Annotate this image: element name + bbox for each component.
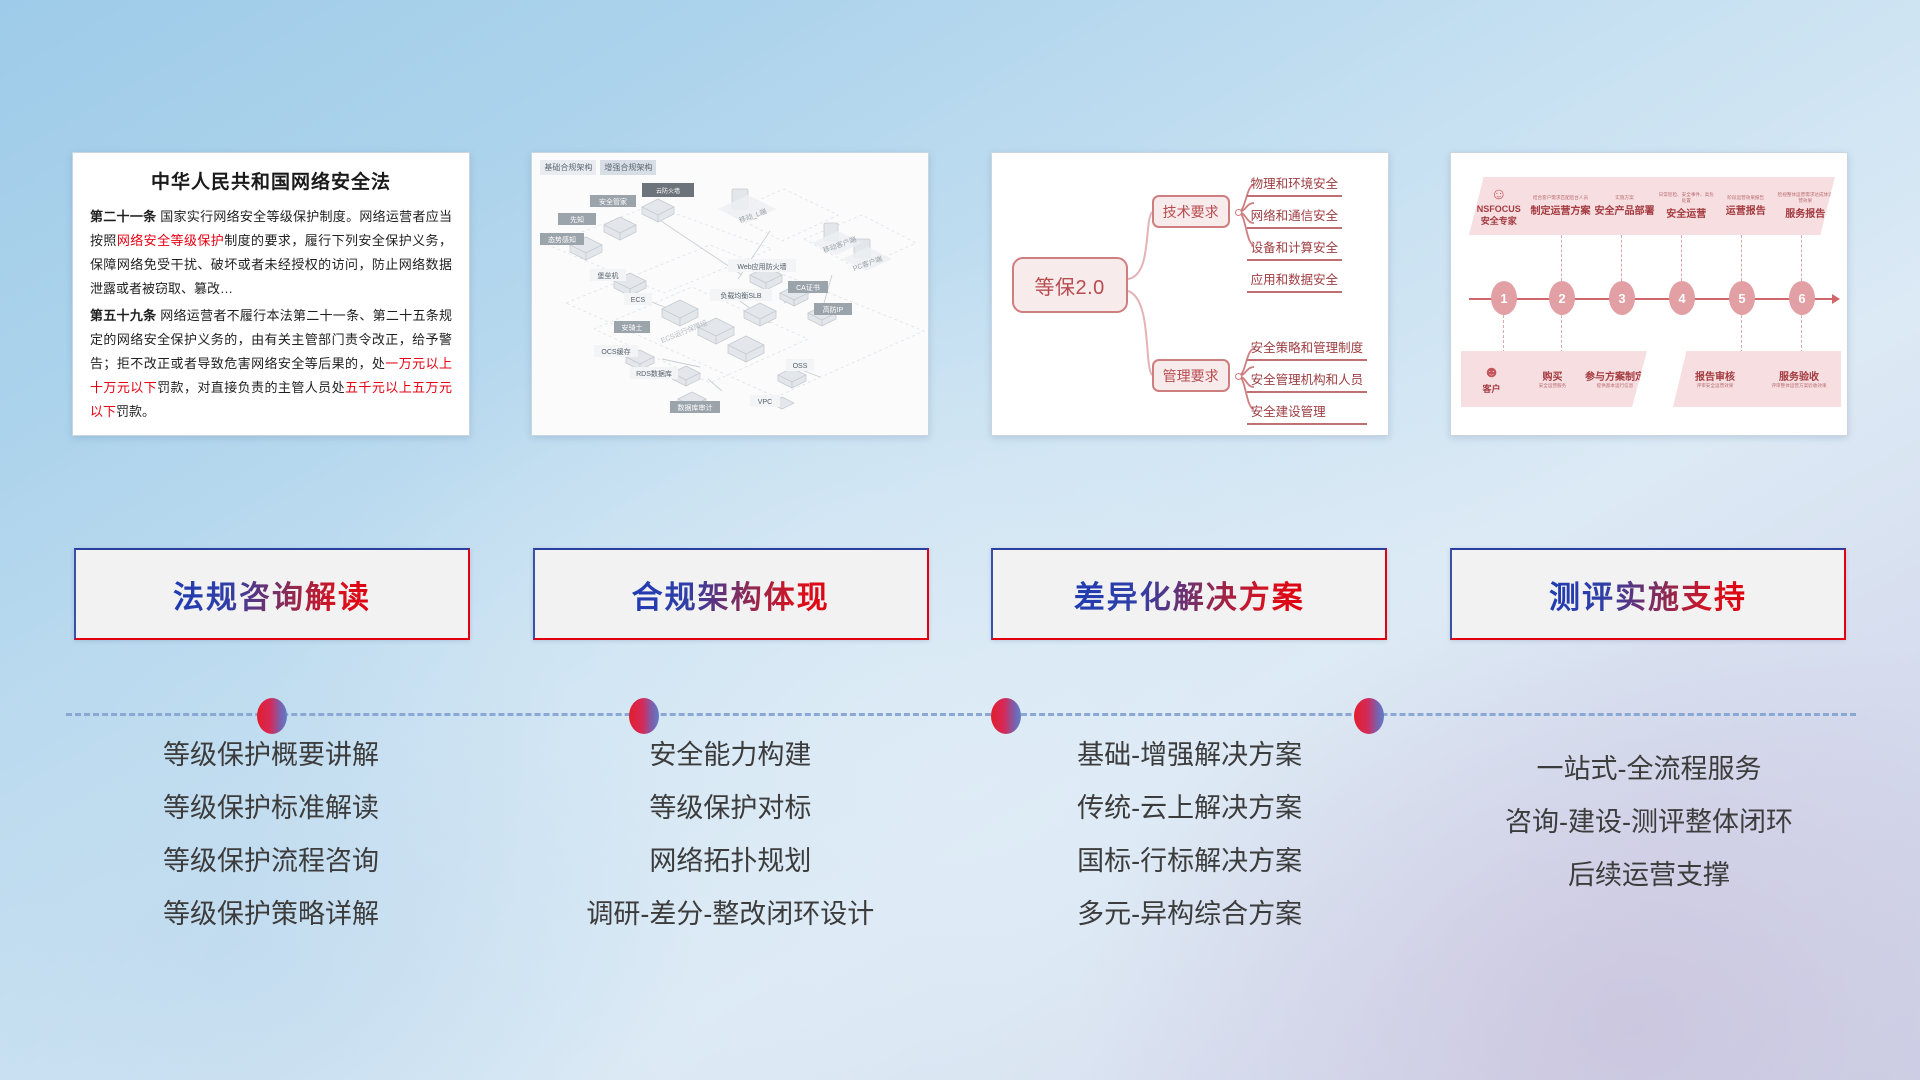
service-item-columns: 等级保护概要讲解 等级保护标准解读 等级保护流程咨询 等级保护策略详解 安全能力… (72, 742, 1848, 972)
timeline-tick (1801, 235, 1802, 281)
service-item[interactable]: 传统-云上解决方案 (1077, 795, 1302, 822)
service-item[interactable]: 等级保护标准解读 (163, 795, 379, 822)
law-body: 第二十一条 国家实行网络安全等级保护制度。网络运营者应当按照网络安全等级保护制度… (90, 205, 452, 424)
expert-person-icon: ☺ (1491, 186, 1507, 203)
timeline-top-step-main: 制定运营方案 (1530, 202, 1590, 217)
service-item[interactable]: 后续运营支撑 (1568, 862, 1730, 889)
timeline-bottom-step[interactable]: 报告审核 评审安全运营效果 (1673, 368, 1757, 391)
timeline-node[interactable]: 4 (1669, 281, 1695, 315)
service-item[interactable]: 等级保护流程咨询 (163, 848, 379, 875)
timeline-actor-expert: ☺ NSFOCUS 安全专家 (1469, 186, 1529, 227)
svg-text:VPC: VPC (758, 399, 772, 406)
law-article-59-post: 罚款。 (116, 404, 155, 419)
svg-text:负载均衡SLB: 负载均衡SLB (721, 291, 763, 300)
service-item[interactable]: 基础-增强解决方案 (1077, 742, 1302, 769)
timeline-top-step-sub: 检视整体运营需求达成体运营效果 (1777, 192, 1833, 203)
svg-text:云防火墙: 云防火墙 (656, 187, 680, 195)
progress-timeline (66, 692, 1856, 736)
mindmap-collapse-dot-technical[interactable] (1235, 209, 1242, 216)
category-button-label: 差异化解决方案 (1074, 572, 1305, 617)
mindmap-collapse-dot-management[interactable] (1235, 373, 1242, 380)
mindmap-leaves-technical: 物理和环境安全 网络和通信安全 设备和计算安全 应用和数据安全 (1247, 171, 1343, 299)
category-button-differentiated-solution[interactable]: 差异化解决方案 (991, 548, 1387, 640)
timeline-top-step[interactable]: 日常巡检、安全事件、高危处置 安全运营 (1656, 192, 1716, 220)
category-button-assessment-support[interactable]: 测评实施支持 (1450, 548, 1846, 640)
service-item[interactable]: 等级保护策略详解 (163, 901, 379, 928)
timeline-top-step-sub: 日常巡检、安全事件、高危处置 (1658, 192, 1714, 203)
architecture-svg: 云防火墙 安全管家 先知 态势感知 堡垒机 ECS 安骑士 OCS缓存 RDS数… (532, 153, 929, 436)
service-column-assessment-support: 一站式-全流程服务 咨询-建设-测评整体闭环 后续运营支撑 (1450, 742, 1848, 972)
timeline-bottom-band-left: ☻ 客户 购买 安全运营服务 参与方案制定 提供基本运行信息 (1461, 351, 1647, 407)
timeline-node[interactable]: 5 (1729, 281, 1755, 315)
svg-text:安全管家: 安全管家 (599, 197, 627, 206)
card-service-timeline[interactable]: ☺ NSFOCUS 安全专家 结合客户需求匹配后台人员 制定运营方案 实施方案 … (1450, 152, 1848, 436)
timeline-tick (1681, 235, 1682, 281)
mindmap-leaf[interactable]: 安全管理机构和人员 (1247, 367, 1368, 393)
mindmap-leaf[interactable]: 安全运维管理 (1247, 431, 1368, 436)
timeline-arrow-icon (1832, 294, 1840, 304)
mindmap-leaf[interactable]: 应用和数据安全 (1247, 267, 1343, 293)
tab-enhanced-architecture[interactable]: 增强合规架构 (600, 160, 656, 175)
service-item[interactable]: 安全能力构建 (649, 742, 811, 769)
timeline-dashed-line (66, 713, 1856, 716)
timeline-top-step-sub: 结合客户需求匹配后台人员 (1530, 195, 1590, 201)
mindmap-leaf[interactable]: 安全建设管理 (1247, 399, 1368, 425)
svg-text:态势感知: 态势感知 (548, 235, 576, 244)
timeline-bottom-step-main: 服务验收 (1759, 368, 1839, 383)
timeline-top-step-main: 服务报告 (1777, 205, 1833, 220)
svg-text:高防IP: 高防IP (823, 305, 844, 314)
mindmap-diagram: 等保2.0 技术要求 物理和环境安全 网络和通信安全 设备和计算安全 应用和数据… (992, 153, 1388, 435)
timeline-bottom-step-main: 参与方案制定 (1585, 368, 1645, 383)
svg-text:Web应用防火墙: Web应用防火墙 (738, 262, 787, 271)
law-document: 中华人民共和国网络安全法 第二十一条 国家实行网络安全等级保护制度。网络运营者应… (73, 153, 469, 436)
timeline-marker-dot[interactable] (629, 698, 659, 734)
mindmap-branch-management[interactable]: 管理要求 (1152, 359, 1230, 392)
tab-basic-architecture[interactable]: 基础合规架构 (540, 160, 596, 175)
timeline-bottom-step-sub: 安全运营服务 (1524, 383, 1581, 389)
timeline-top-step[interactable]: 实施方案 安全产品部署 (1592, 195, 1656, 218)
mindmap-leaf[interactable]: 设备和计算安全 (1247, 235, 1343, 261)
preview-cards-row: 中华人民共和国网络安全法 第二十一条 国家实行网络安全等级保护制度。网络运营者应… (72, 152, 1848, 448)
category-button-label: 合规架构体现 (632, 572, 830, 617)
law-article-59: 第五十九条 网络运营者不履行本法第二十一条、第二十五条规定的网络安全保护义务的，… (90, 304, 452, 424)
service-item[interactable]: 一站式-全流程服务 (1536, 756, 1761, 783)
service-column-differentiated-solution: 基础-增强解决方案 传统-云上解决方案 国标-行标解决方案 多元-异构综合方案 (991, 742, 1389, 972)
svg-text:安骑士: 安骑士 (622, 323, 643, 332)
service-item[interactable]: 国标-行标解决方案 (1077, 848, 1302, 875)
timeline-top-step[interactable]: 阶段运营效果报告 运营报告 (1716, 195, 1776, 218)
timeline-node[interactable]: 6 (1789, 281, 1815, 315)
timeline-node[interactable]: 2 (1549, 281, 1575, 315)
category-button-row: 法规咨询解读 合规架构体现 差异化解决方案 测评实施支持 (74, 548, 1846, 640)
timeline-bottom-step-sub: 提供基本运行信息 (1585, 383, 1645, 389)
timeline-bottom-step-main: 购买 (1524, 368, 1581, 383)
law-article-21: 第二十一条 国家实行网络安全等级保护制度。网络运营者应当按照网络安全等级保护制度… (90, 205, 452, 301)
svg-text:ECS: ECS (631, 297, 646, 304)
customer-person-icon: ☻ (1483, 364, 1500, 381)
timeline-top-step-main: 安全产品部署 (1594, 202, 1654, 217)
timeline-node[interactable]: 1 (1491, 281, 1517, 315)
timeline-marker-dot[interactable] (1354, 698, 1384, 734)
timeline-top-step[interactable]: 结合客户需求匹配后台人员 制定运营方案 (1528, 195, 1592, 218)
svg-text:先知: 先知 (570, 215, 584, 224)
timeline-bottom-step[interactable]: 购买 安全运营服务 (1522, 368, 1583, 391)
timeline-bottom-step[interactable]: 服务验收 评审整体运营方案验收效果 (1757, 368, 1841, 391)
timeline-tick (1561, 315, 1562, 353)
timeline-top-step[interactable]: 检视整体运营需求达成体运营效果 服务报告 (1775, 192, 1835, 220)
service-item[interactable]: 咨询-建设-测评整体闭环 (1505, 809, 1793, 836)
timeline-bottom-step-sub: 评审整体运营方案验收效果 (1759, 383, 1839, 389)
expert-label-line1: NSFOCUS (1471, 204, 1527, 214)
timeline-node[interactable]: 3 (1609, 281, 1635, 315)
mindmap-root-node[interactable]: 等保2.0 (1012, 257, 1128, 313)
service-item[interactable]: 等级保护概要讲解 (163, 742, 379, 769)
service-item[interactable]: 调研-差分-整改闭环设计 (586, 901, 874, 928)
service-item[interactable]: 网络拓扑规划 (649, 848, 811, 875)
timeline-tick (1561, 235, 1562, 281)
category-button-label: 测评实施支持 (1549, 572, 1747, 617)
customer-label: 客户 (1463, 382, 1520, 395)
architecture-tabs: 基础合规架构 增强合规架构 (540, 160, 656, 175)
category-button-label: 法规咨询解读 (173, 572, 371, 617)
timeline-actor-customer: ☻ 客户 (1461, 364, 1522, 395)
timeline-marker-dot[interactable] (257, 698, 287, 734)
expert-label-line2: 安全专家 (1471, 214, 1527, 227)
timeline-marker-dot[interactable] (991, 698, 1021, 734)
timeline-tick (1621, 235, 1622, 281)
mindmap-leaf[interactable]: 物理和环境安全 (1247, 171, 1343, 197)
timeline-top-step-main: 安全运营 (1658, 205, 1714, 220)
service-column-compliance-architecture: 安全能力构建 等级保护对标 网络拓扑规划 调研-差分-整改闭环设计 (531, 742, 929, 972)
timeline-bottom-step-main: 报告审核 (1675, 368, 1755, 383)
svg-text:OSS: OSS (793, 363, 808, 370)
timeline-tick (1741, 315, 1742, 353)
nsfocus-service-timeline: ☺ NSFOCUS 安全专家 结合客户需求匹配后台人员 制定运营方案 实施方案 … (1451, 153, 1847, 435)
svg-text:CA证书: CA证书 (796, 283, 820, 292)
timeline-bottom-step[interactable]: 参与方案制定 提供基本运行信息 (1583, 368, 1647, 391)
timeline-tick (1503, 315, 1504, 353)
mindmap-leaves-management: 安全策略和管理制度 安全管理机构和人员 安全建设管理 安全运维管理 (1247, 335, 1368, 436)
mindmap-leaf[interactable]: 安全策略和管理制度 (1247, 335, 1368, 361)
service-item[interactable]: 等级保护对标 (649, 795, 811, 822)
svg-text:RDS数据库: RDS数据库 (636, 369, 672, 378)
svg-text:堡垒机: 堡垒机 (598, 271, 619, 280)
timeline-tick (1741, 235, 1742, 281)
card-mindmap[interactable]: 等保2.0 技术要求 物理和环境安全 网络和通信安全 设备和计算安全 应用和数据… (991, 152, 1389, 436)
timeline-axis (1469, 298, 1833, 300)
law-article-59-label: 第五十九条 (90, 308, 156, 323)
law-article-21-highlight: 网络安全等级保护 (117, 233, 224, 248)
timeline-tick (1801, 315, 1802, 353)
timeline-bottom-band-right: 报告审核 评审安全运营效果 服务验收 评审整体运营方案验收效果 (1673, 351, 1841, 407)
service-item[interactable]: 多元-异构综合方案 (1077, 901, 1302, 928)
law-title: 中华人民共和国网络安全法 (90, 167, 452, 194)
category-button-compliance-architecture[interactable]: 合规架构体现 (533, 548, 929, 640)
cloud-architecture-diagram: 基础合规架构 增强合规架构 (532, 153, 928, 435)
timeline-bottom-step-sub: 评审安全运营效果 (1675, 383, 1755, 389)
category-button-regulation-consulting[interactable]: 法规咨询解读 (74, 548, 470, 640)
card-cloud-architecture[interactable]: 基础合规架构 增强合规架构 (531, 152, 929, 436)
law-article-21-label: 第二十一条 (90, 209, 156, 224)
service-column-regulation-consulting: 等级保护概要讲解 等级保护标准解读 等级保护流程咨询 等级保护策略详解 (72, 742, 470, 972)
timeline-top-step-main: 运营报告 (1718, 202, 1774, 217)
card-law-document[interactable]: 中华人民共和国网络安全法 第二十一条 国家实行网络安全等级保护制度。网络运营者应… (72, 152, 470, 436)
law-article-59-mid: 罚款，对直接负责的主管人员处 (157, 380, 345, 395)
timeline-top-step-sub: 阶段运营效果报告 (1718, 195, 1774, 201)
mindmap-leaf[interactable]: 网络和通信安全 (1247, 203, 1343, 229)
svg-text:数据库审计: 数据库审计 (678, 403, 713, 412)
timeline-top-band: ☺ NSFOCUS 安全专家 结合客户需求匹配后台人员 制定运营方案 实施方案 … (1469, 177, 1835, 235)
svg-text:OCS缓存: OCS缓存 (602, 347, 631, 356)
timeline-top-step-sub: 实施方案 (1594, 195, 1654, 201)
mindmap-branch-technical[interactable]: 技术要求 (1152, 195, 1230, 228)
